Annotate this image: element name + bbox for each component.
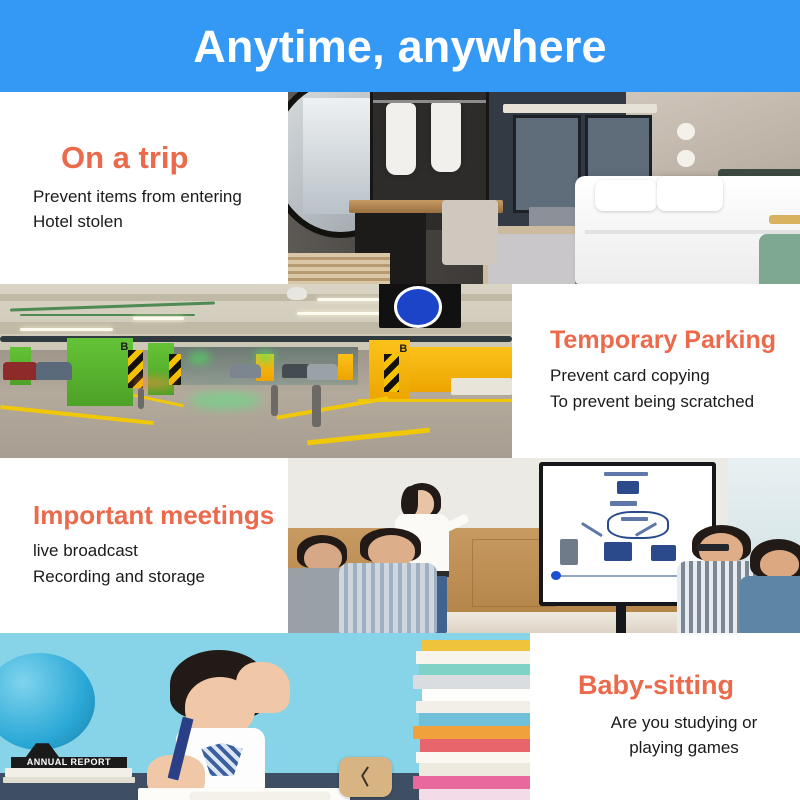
section-baby-sitting: ANNUAL REPORT — [0, 633, 800, 800]
section-line-2: Hotel stolen — [33, 209, 288, 235]
section-line-2: playing games — [568, 735, 800, 761]
parking-garage-photo: B B — [0, 284, 512, 458]
temporary-parking-copy: Temporary Parking Prevent card copying T… — [512, 284, 800, 458]
section-line-2: To prevent being scratched — [550, 389, 800, 415]
annual-report-book: ANNUAL REPORT — [11, 757, 128, 769]
section-temporary-parking: B B — [0, 284, 800, 458]
wooden-clock-icon — [339, 757, 392, 797]
section-heading: Baby-sitting — [568, 671, 800, 701]
section-heading: Important meetings — [33, 501, 288, 530]
on-a-trip-copy: On a trip Prevent items from entering Ho… — [0, 92, 288, 284]
section-line-1: live broadcast — [33, 538, 288, 564]
book-stack — [413, 640, 530, 800]
section-line-1: Prevent card copying — [550, 363, 800, 389]
section-line-1: Prevent items from entering — [33, 184, 288, 210]
section-line-1: Are you studying or — [568, 710, 800, 736]
section-on-a-trip: On a trip Prevent items from entering Ho… — [0, 92, 800, 284]
section-heading: Temporary Parking — [550, 327, 800, 355]
baby-sitting-copy: Baby-sitting Are you studying or playing… — [530, 633, 800, 800]
page-title: Anytime, anywhere — [193, 24, 607, 69]
section-important-meetings: Important meetings live broadcast Record… — [0, 458, 800, 633]
important-meetings-copy: Important meetings live broadcast Record… — [0, 458, 288, 633]
hotel-room-photo — [288, 92, 800, 284]
section-heading: On a trip — [33, 141, 288, 175]
meeting-room-photo — [288, 458, 800, 633]
page-banner: Anytime, anywhere — [0, 0, 800, 92]
child-studying-photo: ANNUAL REPORT — [0, 633, 530, 800]
child-person — [138, 650, 297, 800]
section-line-2: Recording and storage — [33, 564, 288, 590]
promo-poster: Anytime, anywhere — [0, 0, 800, 800]
attendee-person-right-2 — [739, 539, 800, 634]
attendee-person-left-2 — [339, 528, 441, 633]
